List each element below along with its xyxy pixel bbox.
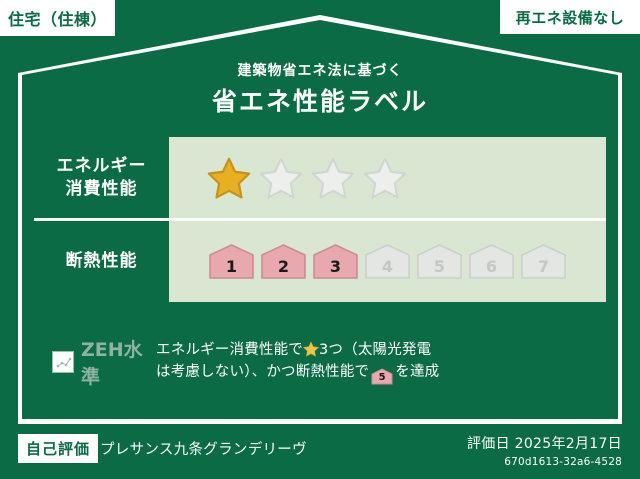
energy-performance-value (169, 137, 606, 218)
inline-star-icon (303, 341, 319, 357)
energy-label-line1: エネルギー (57, 155, 147, 178)
insulation-level-6: 6 (467, 243, 516, 281)
insulation-level-7: 7 (519, 243, 568, 281)
inline-house-badge: 5 (371, 368, 393, 385)
zeh-desc-line1b: 3つ（太陽光発電 (319, 342, 431, 358)
insulation-level-label: 4 (382, 257, 393, 276)
zeh-desc-line2b: を達成 (395, 364, 439, 380)
energy-label-card: 住宅（住棟） 再エネ設備なし 建築物省エネ法に基づく 省エネ性能ラベル エネルギ… (0, 0, 640, 479)
zeh-note: ZEH水準 エネルギー消費性能で 3つ（太陽光発電 は考慮しない）、かつ断熱性能… (34, 332, 606, 392)
zeh-standard-label: ZEH水準 (81, 335, 156, 389)
insulation-level-3: 3 (311, 243, 360, 281)
inline-house-value: 5 (371, 368, 393, 387)
energy-label-line2: 消費性能 (66, 178, 138, 201)
ratings-card: エネルギー 消費性能 断熱性能 1234567 (34, 137, 606, 299)
insulation-performance-row: 断熱性能 1234567 (34, 218, 606, 302)
insulation-level-label: 6 (486, 257, 497, 276)
zeh-standard: ZEH水準 (34, 335, 156, 389)
insulation-label-text: 断熱性能 (66, 250, 138, 273)
star-rating (207, 156, 407, 200)
tag-renewable-status: 再エネ設備なし (500, 0, 640, 34)
insulation-level-label: 1 (226, 257, 237, 276)
title-subtitle: 建築物省エネ法に基づく (0, 60, 640, 80)
tag-building-type: 住宅（住棟） (0, 0, 115, 36)
star-empty-icon (311, 156, 355, 200)
insulation-level-label: 5 (434, 257, 445, 276)
page-title: 省エネ性能ラベル (0, 82, 640, 118)
zeh-description: エネルギー消費性能で 3つ（太陽光発電 は考慮しない）、かつ断熱性能で 5を達成 (156, 339, 439, 385)
zeh-desc-line2a: は考慮しない）、かつ断熱性能で (156, 364, 369, 380)
insulation-performance-value: 1234567 (169, 221, 606, 302)
zeh-checkbox-icon (52, 351, 74, 373)
insulation-level-label: 2 (278, 257, 289, 276)
star-empty-icon (363, 156, 407, 200)
star-filled-icon (207, 156, 251, 200)
star-empty-icon (259, 156, 303, 200)
energy-performance-label: エネルギー 消費性能 (34, 137, 169, 218)
insulation-scale: 1234567 (207, 243, 568, 281)
zeh-desc-line1a: エネルギー消費性能で (156, 342, 303, 358)
insulation-level-5: 5 (415, 243, 464, 281)
insulation-level-label: 7 (538, 257, 549, 276)
insulation-level-1: 1 (207, 243, 256, 281)
evaluation-date: 評価日 2025年2月17日 (467, 433, 622, 453)
insulation-level-4: 4 (363, 243, 412, 281)
insulation-level-label: 3 (330, 257, 341, 276)
insulation-level-2: 2 (259, 243, 308, 281)
evaluation-id: 670d1613-32a6-4528 (467, 456, 622, 468)
insulation-performance-label: 断熱性能 (34, 221, 169, 302)
evaluation-info: 評価日 2025年2月17日 670d1613-32a6-4528 (467, 433, 622, 468)
building-name: プレサンス九条グランデリーヴ (100, 438, 307, 459)
self-evaluation-badge: 自己評価 (18, 434, 98, 463)
energy-performance-row: エネルギー 消費性能 (34, 137, 606, 218)
footer-bar: 自己評価 プレサンス九条グランデリーヴ 評価日 2025年2月17日 670d1… (0, 424, 640, 479)
